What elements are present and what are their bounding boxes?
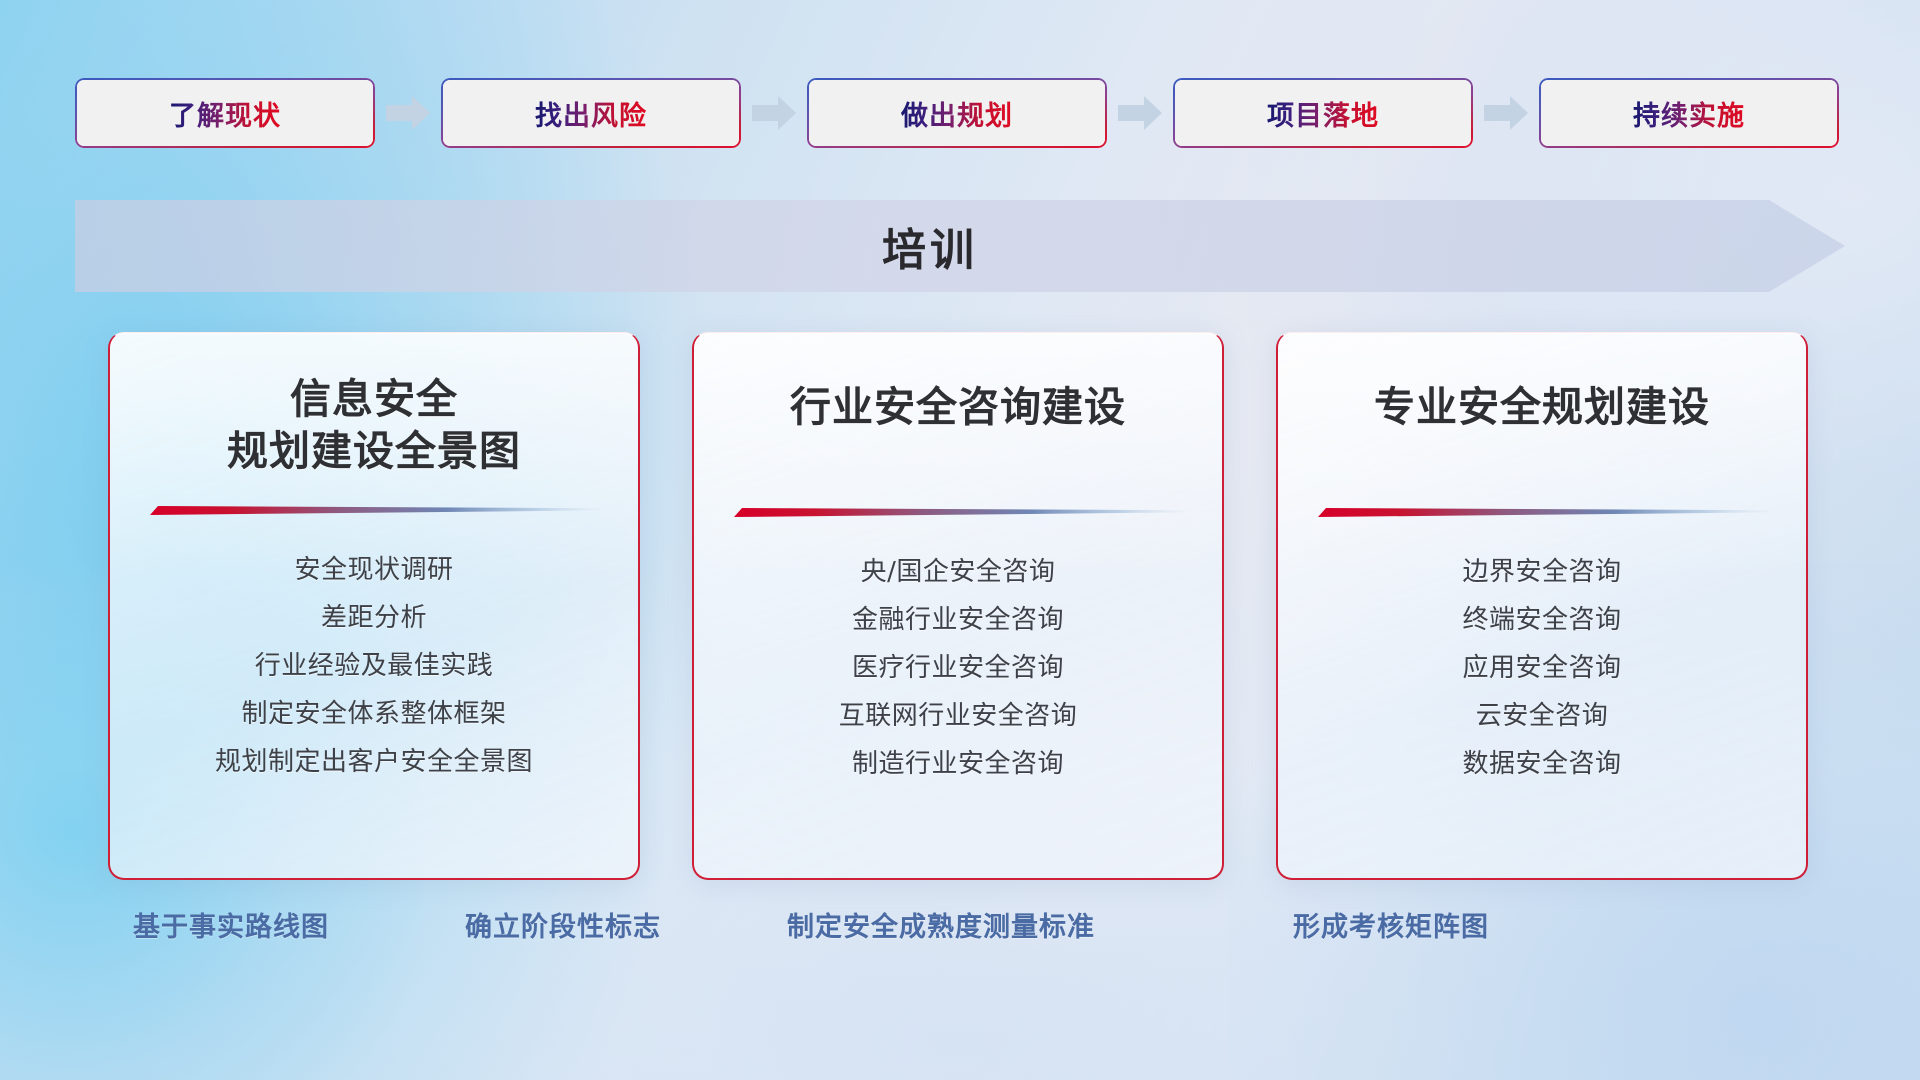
process-step-1-label: 找出风险 [535,94,647,133]
process-step-3-inner: 项目落地 [1175,80,1471,146]
list-item: 互联网行业安全咨询 [839,692,1078,740]
process-step-2-label: 做出规划 [901,94,1013,133]
process-step-0-inner: 了解现状 [77,80,373,146]
card-row: 信息安全 规划建设全景图 [108,332,1808,886]
card-1[interactable]: 行业安全咨询建设 [692,332,1224,880]
caption-0: 基于事实路线图 [133,905,329,944]
training-banner: 培训 [75,200,1845,292]
caption-row: 基于事实路线图 确立阶段性标志 制定安全成熟度测量标准 形成考核矩阵图 [0,905,1920,975]
card-0-list: 安全现状调研 差距分析 行业经验及最佳实践 制定安全体系整体框架 规划制定出客户… [215,546,533,786]
process-step-3[interactable]: 项目落地 [1173,78,1473,148]
card-2-list: 边界安全咨询 终端安全咨询 应用安全咨询 云安全咨询 数据安全咨询 [1462,548,1621,788]
caption-2: 制定安全成熟度测量标准 [787,905,1095,944]
arrow-right-icon [1473,78,1539,148]
list-item: 医疗行业安全咨询 [839,644,1078,692]
list-item: 金融行业安全咨询 [839,596,1078,644]
process-step-0[interactable]: 了解现状 [75,78,375,148]
list-item: 制造行业安全咨询 [839,740,1078,788]
arrow-right-icon [375,78,441,148]
gradient-underline-icon [1316,506,1768,522]
process-step-2-inner: 做出规划 [809,80,1105,146]
card-1-list: 央/国企安全咨询 金融行业安全咨询 医疗行业安全咨询 互联网行业安全咨询 制造行… [839,548,1078,788]
list-item: 云安全咨询 [1462,692,1621,740]
gradient-underline-icon [148,504,600,520]
card-1-title-line-0: 行业安全咨询建设 [790,381,1126,433]
process-step-4-inner: 持续实施 [1541,80,1837,146]
list-item: 行业经验及最佳实践 [215,642,533,690]
list-item: 制定安全体系整体框架 [215,690,533,738]
arrow-right-icon [741,78,807,148]
card-0-title-line-1: 规划建设全景图 [227,425,521,477]
list-item: 终端安全咨询 [1462,596,1621,644]
process-step-1-inner: 找出风险 [443,80,739,146]
process-step-2[interactable]: 做出规划 [807,78,1107,148]
process-step-4[interactable]: 持续实施 [1539,78,1839,148]
gradient-underline-icon [732,506,1184,522]
caption-1: 确立阶段性标志 [465,905,661,944]
list-item: 应用安全咨询 [1462,644,1621,692]
card-2[interactable]: 专业安全规划建设 [1276,332,1808,880]
card-0-title: 信息安全 规划建设全景图 [227,373,521,478]
card-0[interactable]: 信息安全 规划建设全景图 [108,332,640,880]
list-item: 边界安全咨询 [1462,548,1621,596]
arrow-right-icon [1107,78,1173,148]
card-1-title: 行业安全咨询建设 [790,381,1126,433]
card-2-title: 专业安全规划建设 [1374,381,1710,433]
list-item: 差距分析 [215,594,533,642]
caption-3: 形成考核矩阵图 [1293,905,1489,944]
card-2-title-line-0: 专业安全规划建设 [1374,381,1710,433]
process-step-0-label: 了解现状 [169,94,281,133]
list-item: 安全现状调研 [215,546,533,594]
card-0-title-line-0: 信息安全 [227,373,521,425]
banner-label: 培训 [75,200,1845,292]
process-step-row: 了解现状 找出风险 做出规划 [75,78,1845,148]
process-step-4-label: 持续实施 [1633,94,1745,133]
process-step-3-label: 项目落地 [1267,94,1379,133]
list-item: 数据安全咨询 [1462,740,1621,788]
process-step-1[interactable]: 找出风险 [441,78,741,148]
list-item: 央/国企安全咨询 [839,548,1078,596]
list-item: 规划制定出客户安全全景图 [215,738,533,786]
slide-stage: 了解现状 找出风险 做出规划 [0,0,1920,1080]
